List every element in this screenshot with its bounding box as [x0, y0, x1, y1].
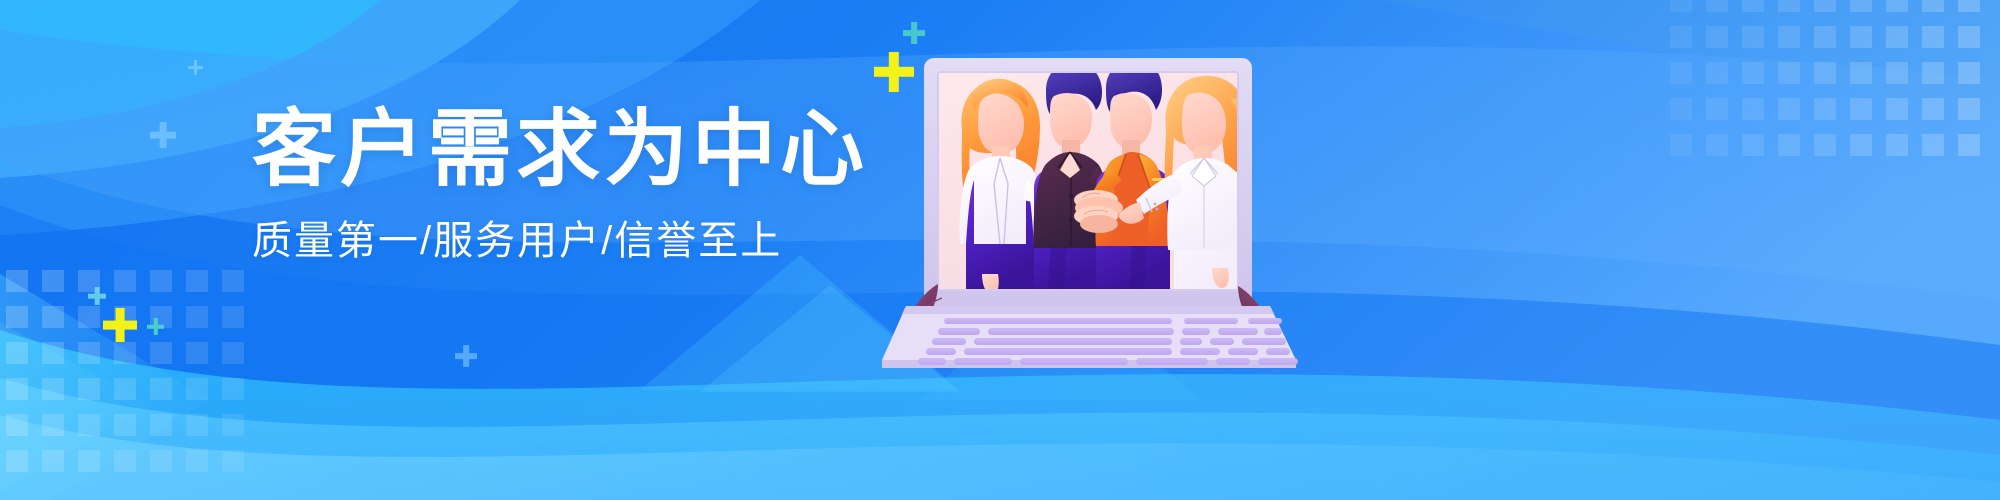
grid-square: [114, 450, 136, 472]
grid-square: [222, 414, 244, 436]
grid-square: [1958, 26, 1980, 48]
grid-square: [114, 378, 136, 400]
grid-square: [1742, 0, 1764, 12]
grid-square: [1814, 26, 1836, 48]
grid-square: [1778, 98, 1800, 120]
grid-square: [1742, 98, 1764, 120]
grid-square: [222, 306, 244, 328]
laptop-keyboard-base: [882, 306, 1298, 368]
grid-square: [1886, 0, 1908, 12]
grid-square: [1778, 26, 1800, 48]
grid-square: [1922, 98, 1944, 120]
grid-square: [1670, 98, 1692, 120]
grid-square: [1670, 26, 1692, 48]
grid-square: [186, 414, 208, 436]
plus-icon-pale-bottom: [88, 287, 106, 305]
grid-square: [186, 306, 208, 328]
laptop-illustration: [900, 38, 1320, 368]
grid-square: [6, 378, 28, 400]
grid-square: [1742, 134, 1764, 156]
grid-square: [1814, 98, 1836, 120]
plus-icon-teal-bottom: [147, 318, 164, 335]
grid-square: [1670, 0, 1692, 12]
grid-square: [222, 342, 244, 364]
banner-headline: 客户需求为中心: [252, 104, 872, 195]
grid-square: [222, 378, 244, 400]
plus-icon-pale-right: [455, 345, 477, 367]
grid-square: [114, 414, 136, 436]
grid-square: [150, 378, 172, 400]
grid-square: [6, 414, 28, 436]
grid-square: [1850, 134, 1872, 156]
grid-square: [42, 414, 64, 436]
plus-icon-yellow-bottom: [103, 308, 137, 342]
grid-square: [78, 414, 100, 436]
grid-square: [42, 270, 64, 292]
grid-square: [1706, 98, 1728, 120]
grid-square: [1850, 26, 1872, 48]
grid-square: [1706, 134, 1728, 156]
grid-square: [1850, 98, 1872, 120]
grid-square: [186, 342, 208, 364]
grid-square: [1814, 62, 1836, 84]
joined-hands: [1074, 190, 1123, 233]
grid-square: [1706, 26, 1728, 48]
banner-text-block: 客户需求为中心 质量第一/服务用户/信誉至上: [252, 104, 872, 265]
grid-square: [1886, 98, 1908, 120]
grid-square: [78, 306, 100, 328]
grid-square: [1814, 0, 1836, 12]
square-grid-top-right: [1670, 0, 2000, 180]
team-handshake-scene: [959, 60, 1274, 294]
grid-square: [6, 450, 28, 472]
grid-square: [78, 378, 100, 400]
grid-square: [42, 306, 64, 328]
grid-square: [1886, 62, 1908, 84]
plus-icon-pale-upper: [188, 60, 203, 75]
grid-square: [6, 306, 28, 328]
promo-banner: 客户需求为中心 质量第一/服务用户/信誉至上: [0, 0, 2000, 500]
grid-square: [1958, 98, 1980, 120]
grid-square: [1778, 62, 1800, 84]
grid-square: [186, 378, 208, 400]
plus-icon-pale-mid: [150, 122, 176, 148]
grid-square: [42, 378, 64, 400]
grid-square: [1778, 0, 1800, 12]
grid-square: [1670, 134, 1692, 156]
grid-square: [1922, 134, 1944, 156]
grid-square: [1742, 26, 1764, 48]
grid-square: [1670, 62, 1692, 84]
grid-square: [1958, 0, 1980, 12]
grid-square: [186, 270, 208, 292]
grid-square: [1886, 26, 1908, 48]
grid-square: [1958, 134, 1980, 156]
grid-square: [1922, 26, 1944, 48]
square-grid-bottom-left: [0, 270, 270, 500]
grid-square: [6, 270, 28, 292]
grid-square: [1706, 62, 1728, 84]
grid-square: [1706, 0, 1728, 12]
grid-square: [1850, 62, 1872, 84]
grid-square: [6, 342, 28, 364]
grid-square: [186, 450, 208, 472]
grid-square: [1922, 0, 1944, 12]
grid-square: [1742, 62, 1764, 84]
grid-square: [114, 270, 136, 292]
grid-square: [1850, 0, 1872, 12]
grid-square: [114, 342, 136, 364]
grid-square: [1778, 134, 1800, 156]
grid-square: [78, 342, 100, 364]
grid-square: [1886, 134, 1908, 156]
grid-square: [150, 342, 172, 364]
banner-subtitle: 质量第一/服务用户/信誉至上: [252, 217, 872, 265]
grid-square: [42, 450, 64, 472]
grid-square: [1814, 134, 1836, 156]
grid-square: [222, 450, 244, 472]
grid-square: [42, 342, 64, 364]
grid-square: [1922, 62, 1944, 84]
grid-square: [150, 450, 172, 472]
grid-square: [150, 414, 172, 436]
grid-square: [150, 270, 172, 292]
grid-square: [78, 450, 100, 472]
grid-square: [222, 270, 244, 292]
grid-square: [1958, 62, 1980, 84]
